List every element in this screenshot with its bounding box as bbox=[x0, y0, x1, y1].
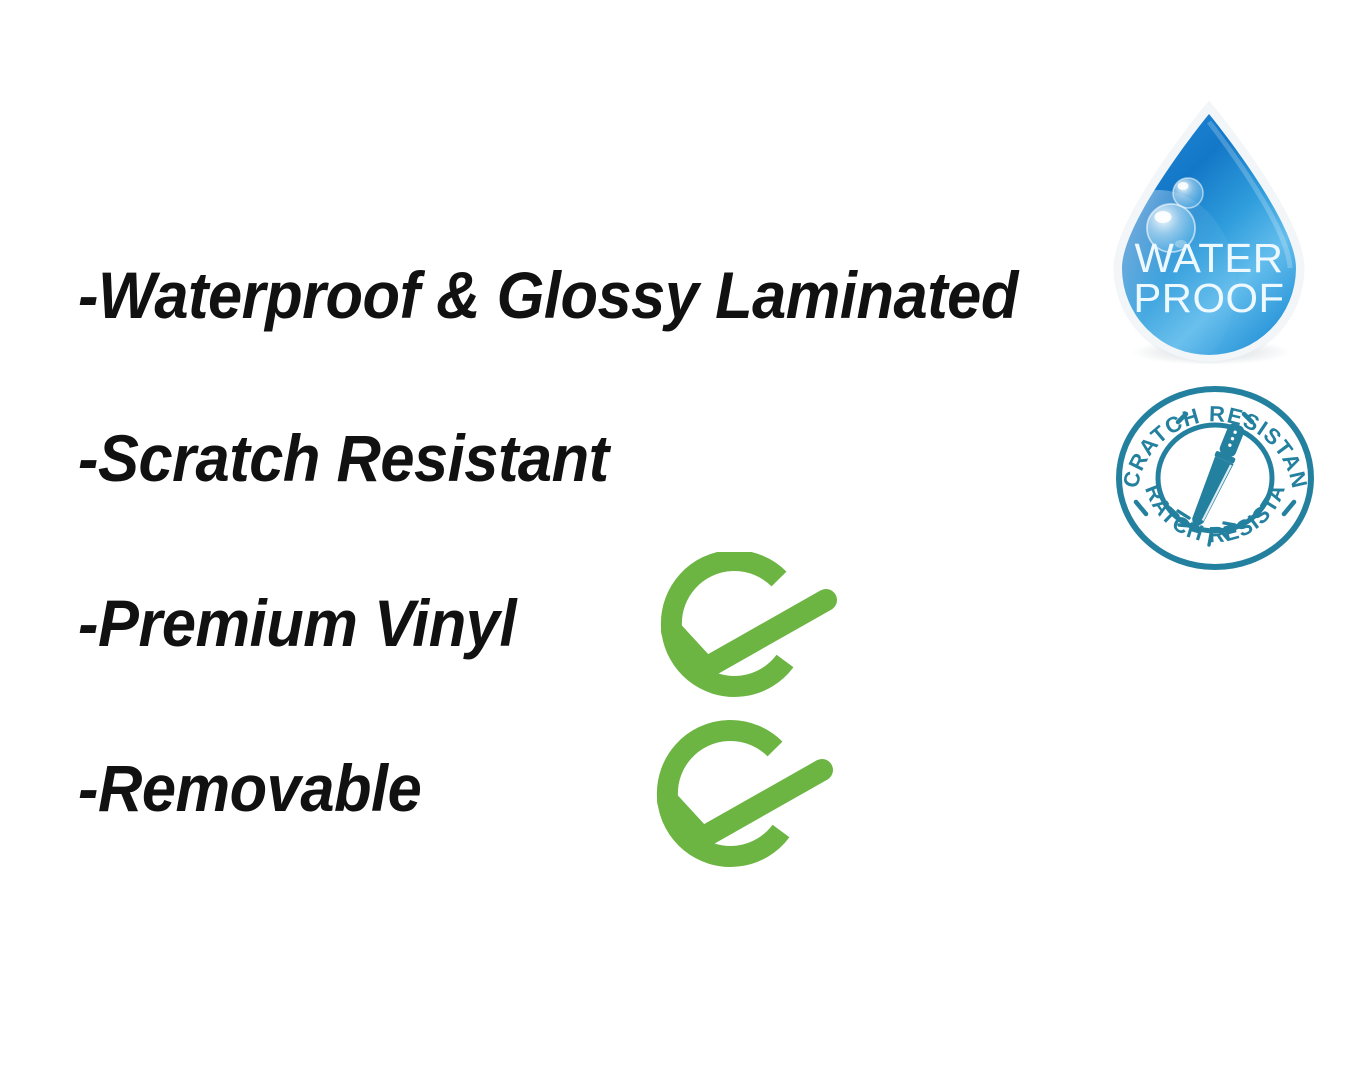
check-circle-removable bbox=[632, 718, 840, 888]
feature-line-removable: -Removable bbox=[78, 755, 421, 821]
water-bubble-small bbox=[1173, 178, 1203, 208]
product-features-graphic: -Waterproof & Glossy Laminated -Scratch … bbox=[0, 0, 1359, 1080]
scratch-resistant-badge: SCRATCH RESISTANT SCRATCH RESISTANT bbox=[1114, 382, 1316, 570]
check-mark-stroke bbox=[668, 770, 822, 838]
check-mark-stroke bbox=[672, 600, 826, 668]
waterproof-label-line1: WATER bbox=[1135, 235, 1284, 281]
feature-line-scratch-resistant: -Scratch Resistant bbox=[78, 425, 609, 491]
feature-line-waterproof-glossy-laminated: -Waterproof & Glossy Laminated bbox=[78, 262, 1018, 328]
check-circle-premium-vinyl bbox=[636, 552, 844, 714]
feature-line-premium-vinyl: -Premium Vinyl bbox=[78, 590, 516, 656]
waterproof-badge: WATER PROOF bbox=[1098, 100, 1320, 368]
waterproof-label-line2: PROOF bbox=[1133, 275, 1284, 321]
